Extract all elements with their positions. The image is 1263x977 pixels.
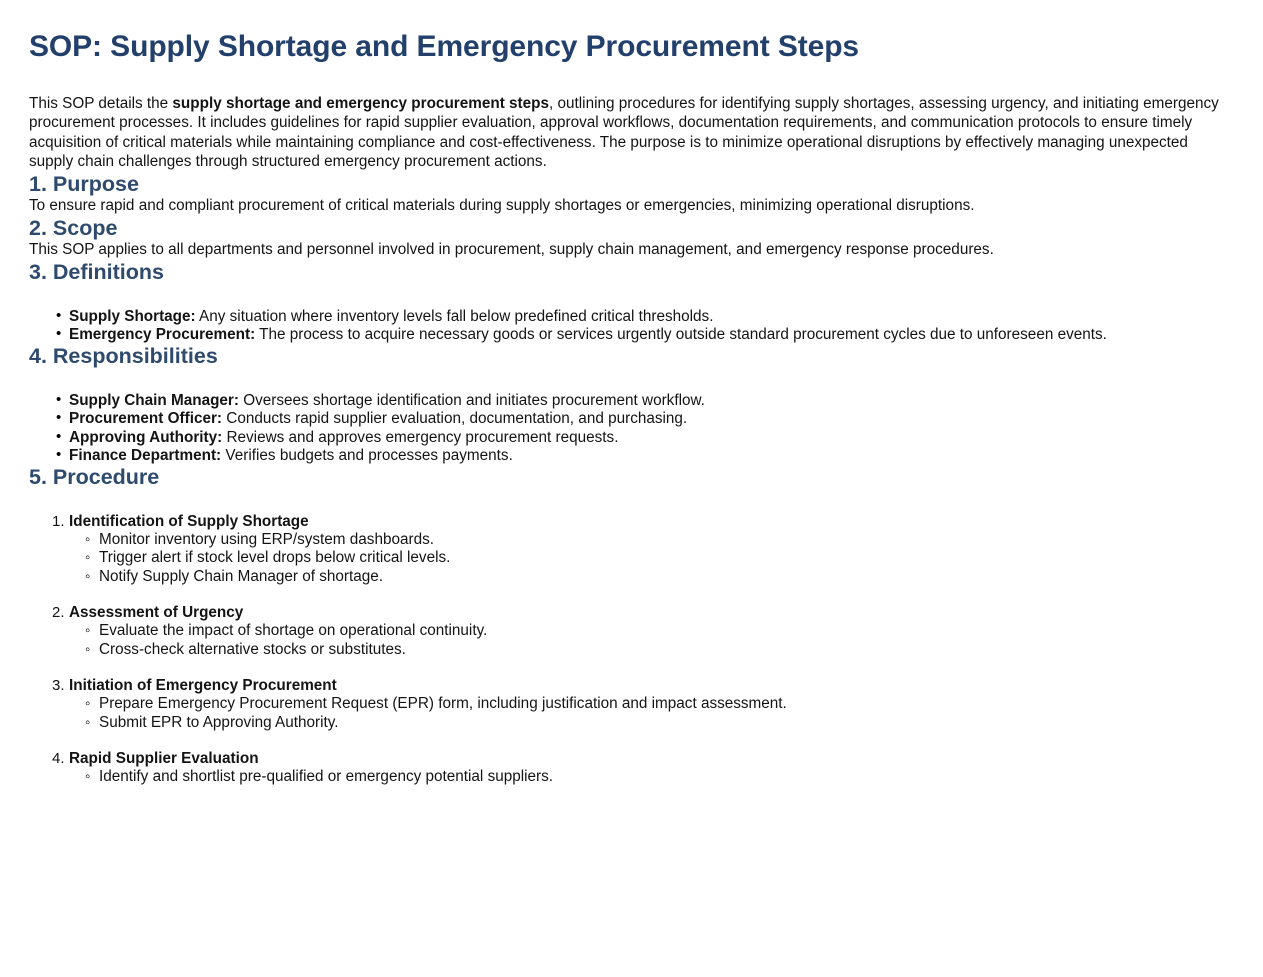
definitions-list: Supply Shortage: Any situation where inv…	[29, 308, 1234, 345]
responsibility-role: Procurement Officer:	[69, 410, 222, 427]
section-paragraph-scope: This SOP applies to all departments and …	[29, 240, 1234, 260]
section-heading-responsibilities: 4. Responsibilities	[29, 344, 1234, 369]
section-heading-scope: 2. Scope	[29, 216, 1234, 241]
procedure-step-title: Identification of Supply Shortage	[69, 513, 1234, 531]
list-item: Supply Shortage: Any situation where inv…	[29, 308, 1234, 326]
responsibility-text: Reviews and approves emergency procureme…	[222, 429, 618, 446]
procedure-step-title: Rapid Supplier Evaluation	[69, 750, 1234, 768]
section-heading-procedure: 5. Procedure	[29, 465, 1234, 490]
procedure-list: Identification of Supply Shortage Monito…	[29, 513, 1234, 787]
procedure-step-title: Initiation of Emergency Procurement	[69, 677, 1234, 695]
intro-paragraph: This SOP details the supply shortage and…	[29, 94, 1234, 172]
procedure-substep-list: Monitor inventory using ERP/system dashb…	[69, 531, 1234, 586]
document-page: SOP: Supply Shortage and Emergency Procu…	[0, 30, 1263, 786]
responsibility-role: Approving Authority:	[69, 429, 222, 446]
definition-term: Emergency Procurement:	[69, 326, 255, 343]
procedure-substep-list: Identify and shortlist pre-qualified or …	[69, 768, 1234, 786]
list-item: Emergency Procurement: The process to ac…	[29, 326, 1234, 344]
responsibility-role: Finance Department:	[69, 447, 221, 464]
section-heading-purpose: 1. Purpose	[29, 172, 1234, 197]
list-item: Supply Chain Manager: Oversees shortage …	[29, 392, 1234, 410]
responsibility-text: Oversees shortage identification and ini…	[239, 392, 705, 409]
list-item: Identify and shortlist pre-qualified or …	[69, 768, 1234, 786]
definition-text: Any situation where inventory levels fal…	[196, 308, 714, 325]
procedure-step-title: Assessment of Urgency	[69, 604, 1234, 622]
list-item: Submit EPR to Approving Authority.	[69, 714, 1234, 732]
list-item: Cross-check alternative stocks or substi…	[69, 641, 1234, 659]
list-item: Prepare Emergency Procurement Request (E…	[69, 695, 1234, 713]
definition-term: Supply Shortage:	[69, 308, 196, 325]
list-item: Rapid Supplier Evaluation Identify and s…	[29, 750, 1234, 787]
list-item: Assessment of Urgency Evaluate the impac…	[29, 604, 1234, 659]
list-item: Approving Authority: Reviews and approve…	[29, 429, 1234, 447]
section-heading-definitions: 3. Definitions	[29, 260, 1234, 285]
page-title: SOP: Supply Shortage and Emergency Procu…	[29, 30, 1234, 65]
list-item: Initiation of Emergency Procurement Prep…	[29, 677, 1234, 732]
responsibility-role: Supply Chain Manager:	[69, 392, 239, 409]
responsibility-text: Verifies budgets and processes payments.	[221, 447, 513, 464]
intro-text-part1: This SOP details the	[29, 95, 172, 112]
section-paragraph-purpose: To ensure rapid and compliant procuremen…	[29, 196, 1234, 216]
list-item: Evaluate the impact of shortage on opera…	[69, 622, 1234, 640]
list-item: Notify Supply Chain Manager of shortage.	[69, 568, 1234, 586]
responsibilities-list: Supply Chain Manager: Oversees shortage …	[29, 392, 1234, 465]
procedure-substep-list: Evaluate the impact of shortage on opera…	[69, 622, 1234, 659]
intro-bold-phrase: supply shortage and emergency procuremen…	[172, 95, 549, 112]
list-item: Finance Department: Verifies budgets and…	[29, 447, 1234, 465]
responsibility-text: Conducts rapid supplier evaluation, docu…	[222, 410, 687, 427]
list-item: Trigger alert if stock level drops below…	[69, 549, 1234, 567]
list-item: Monitor inventory using ERP/system dashb…	[69, 531, 1234, 549]
procedure-substep-list: Prepare Emergency Procurement Request (E…	[69, 695, 1234, 732]
list-item: Procurement Officer: Conducts rapid supp…	[29, 410, 1234, 428]
definition-text: The process to acquire necessary goods o…	[255, 326, 1107, 343]
list-item: Identification of Supply Shortage Monito…	[29, 513, 1234, 586]
